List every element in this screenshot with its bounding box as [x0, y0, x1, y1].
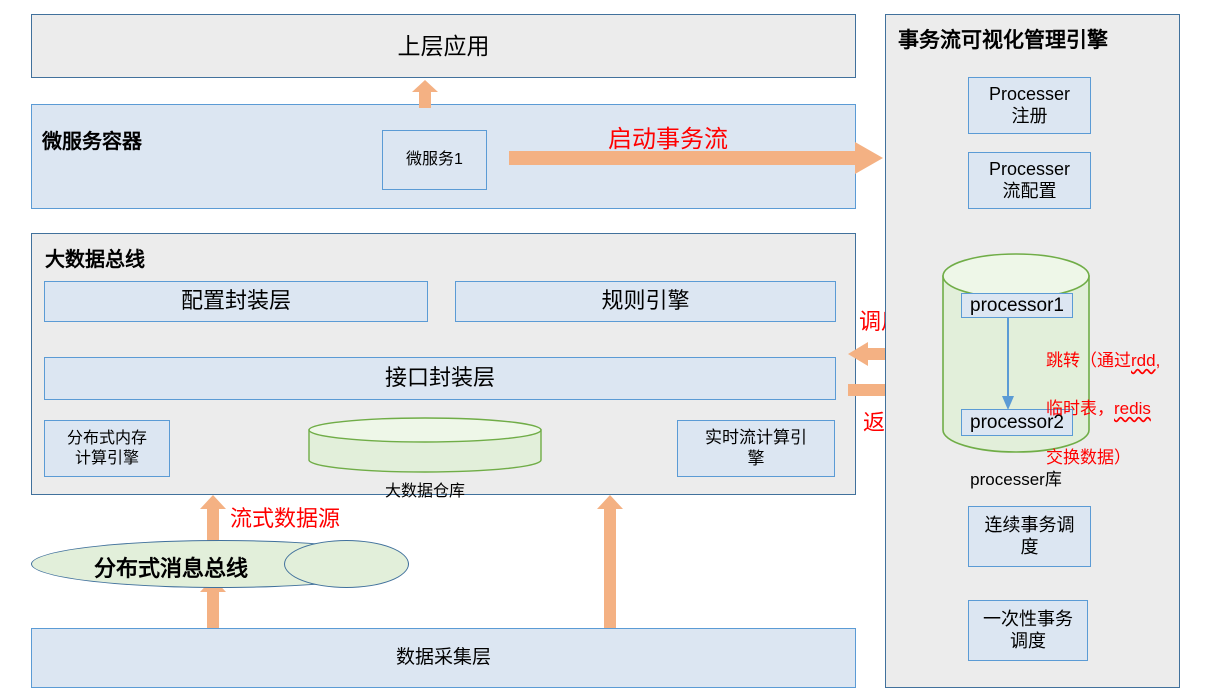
- continuous-transaction-line2: 度: [1021, 537, 1039, 559]
- processer-register-box: Processer 注册: [968, 77, 1091, 134]
- microservice-1-box: 微服务1: [382, 130, 487, 190]
- realtime-stream-engine-line2: 擎: [748, 449, 765, 470]
- onetime-transaction-schedule-box: 一次性事务 调度: [968, 600, 1088, 661]
- microservice-container-title: 微服务容器: [42, 125, 142, 154]
- processer-flow-config-line1: Processer: [989, 159, 1070, 181]
- realtime-stream-engine-line1: 实时流计算引: [705, 428, 807, 449]
- arrow-collection-to-big-data-bus: [597, 495, 623, 628]
- continuous-transaction-schedule-box: 连续事务调 度: [968, 506, 1091, 567]
- jump-annotation-line1: 跳转（通过rdd,: [1046, 349, 1196, 373]
- rule-engine-label: 规则引擎: [601, 288, 689, 315]
- message-bus-label: 分布式消息总线: [94, 551, 248, 583]
- processor1-label: processor1: [970, 294, 1064, 317]
- arrow-processor-jump: [1000, 318, 1016, 410]
- big-data-bus-title: 大数据总线: [45, 243, 145, 272]
- big-data-warehouse-caption: 大数据仓库: [308, 477, 542, 501]
- processer-register-line2: 注册: [1012, 106, 1048, 128]
- big-data-warehouse-cylinder: [308, 417, 542, 473]
- onetime-transaction-line1: 一次性事务: [983, 609, 1073, 631]
- data-collection-label: 数据采集层: [396, 646, 491, 669]
- jump-annotation-rdd: rdd: [1131, 351, 1156, 370]
- onetime-transaction-line2: 调度: [1010, 631, 1046, 653]
- distributed-memory-engine-box: 分布式内存 计算引擎: [44, 420, 170, 477]
- stream-source-label: 流式数据源: [230, 504, 340, 534]
- data-collection-layer: 数据采集层: [31, 628, 856, 688]
- rule-engine-box: 规则引擎: [455, 281, 836, 322]
- upper-application-label: 上层应用: [398, 32, 490, 60]
- arrow-up-to-application: [412, 80, 438, 108]
- continuous-transaction-line1: 连续事务调: [985, 515, 1075, 537]
- distributed-memory-engine-line2: 计算引擎: [75, 449, 139, 469]
- processer-flow-config-line2: 流配置: [1003, 181, 1057, 203]
- transaction-flow-engine-title: 事务流可视化管理引擎: [898, 24, 1108, 54]
- message-bus-ellipse-secondary: [284, 540, 409, 588]
- distributed-memory-engine-line1: 分布式内存: [67, 429, 147, 449]
- upper-application-layer: 上层应用: [31, 14, 856, 78]
- microservice-1-label: 微服务1: [406, 150, 463, 170]
- config-encapsulation-label: 配置封装层: [181, 288, 291, 315]
- processor1-box: processor1: [961, 293, 1073, 318]
- processer-register-line1: Processer: [989, 84, 1070, 106]
- interface-encapsulation-layer: 接口封装层: [44, 357, 836, 400]
- diagram-canvas: 上层应用 微服务容器 微服务1 启动事务流 大数据总线 配置封装层 规则引擎 接…: [0, 0, 1214, 695]
- config-encapsulation-layer: 配置封装层: [44, 281, 428, 322]
- interface-encapsulation-label: 接口封装层: [385, 365, 495, 392]
- arrow-start-transaction-flow: [509, 142, 883, 174]
- processer-flow-config-box: Processer 流配置: [968, 152, 1091, 209]
- realtime-stream-engine-box: 实时流计算引 擎: [677, 420, 835, 477]
- processer-db-caption: processer库: [942, 465, 1090, 490]
- jump-annotation-redis: redis: [1114, 399, 1151, 418]
- jump-annotation-line2: 临时表，redis: [1046, 397, 1196, 421]
